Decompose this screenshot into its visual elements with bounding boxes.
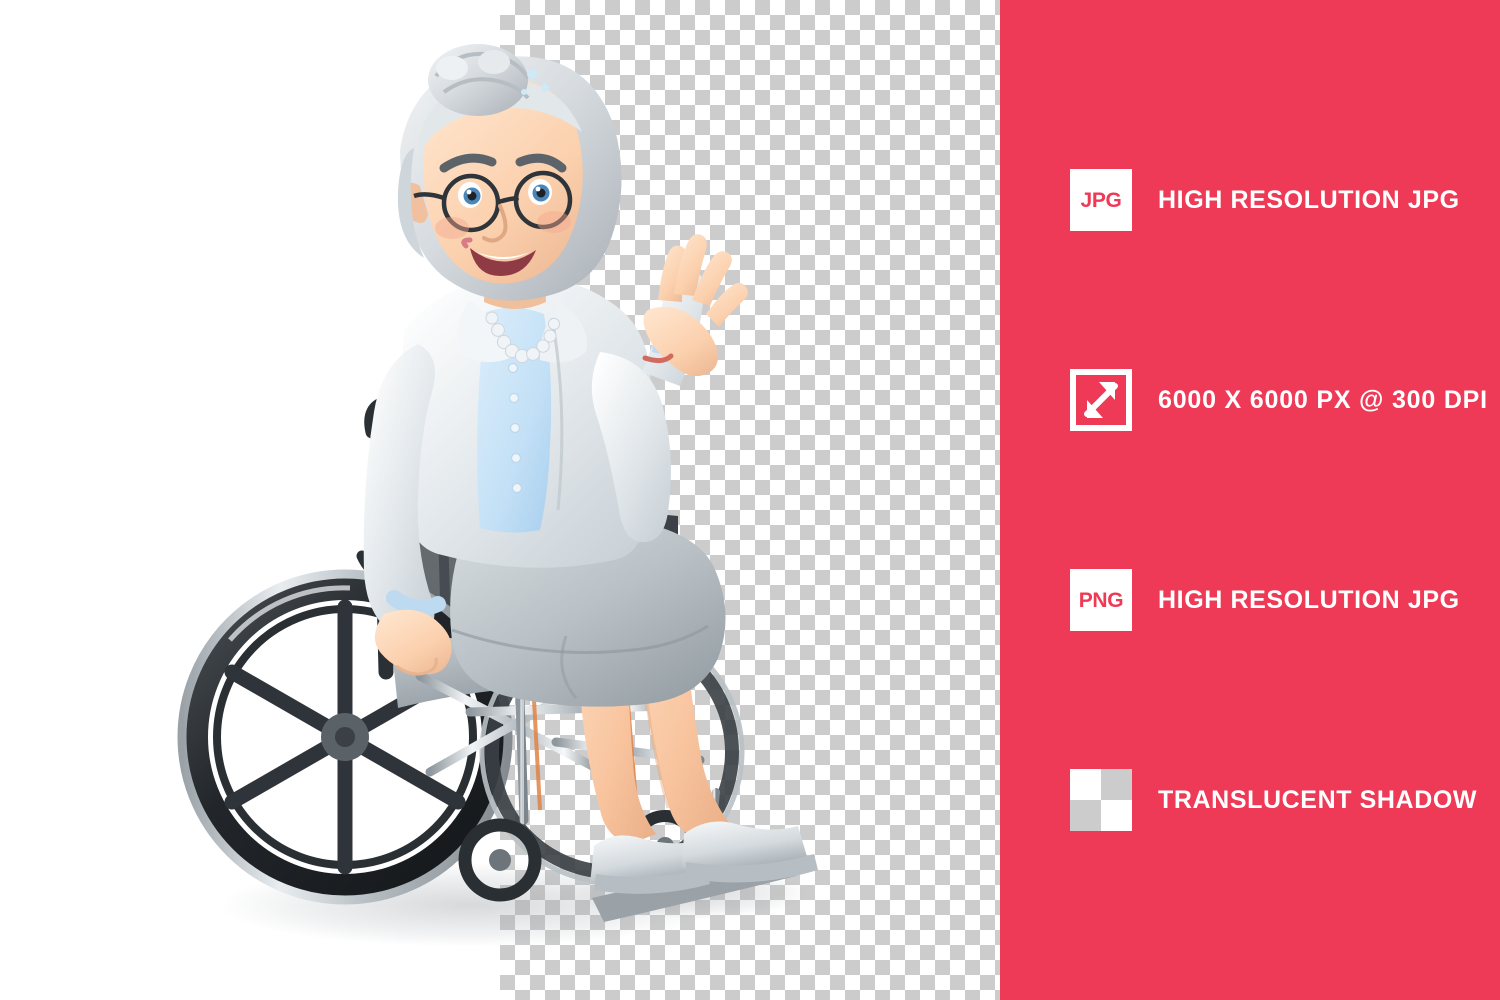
jpg-badge-icon: JPG (1070, 169, 1132, 231)
checker-cell-bl (1070, 800, 1101, 831)
spec-label-translucent-shadow: TRANSLUCENT SHADOW (1158, 788, 1477, 813)
specs-panel: JPG HIGH RESOLUTION JPG 6000 X 6000 PX @… (1000, 0, 1500, 1000)
png-badge-text: PNG (1079, 590, 1124, 611)
checker-cell-br (1101, 800, 1132, 831)
spec-row-dimensions: 6000 X 6000 PX @ 300 DPI (1070, 368, 1500, 432)
spec-label-png: HIGH RESOLUTION JPG (1158, 588, 1460, 613)
checkerboard-swatch (1070, 769, 1132, 831)
spec-label-dimensions: 6000 X 6000 PX @ 300 DPI (1158, 388, 1488, 413)
png-badge-icon: PNG (1070, 569, 1132, 631)
jpg-badge-text: JPG (1080, 190, 1121, 211)
png-badge: PNG (1070, 569, 1132, 631)
spec-row-jpg: JPG HIGH RESOLUTION JPG (1070, 168, 1500, 232)
spec-label-jpg: HIGH RESOLUTION JPG (1158, 188, 1460, 213)
spec-row-translucent-shadow: TRANSLUCENT SHADOW (1070, 768, 1500, 832)
checkerboard-icon (1070, 769, 1132, 831)
spec-row-png: PNG HIGH RESOLUTION JPG (1070, 568, 1500, 632)
checker-cell-tl (1070, 769, 1101, 800)
jpg-badge: JPG (1070, 169, 1132, 231)
transparency-checkerboard-background (500, 0, 1000, 1000)
checker-cell-tr (1101, 769, 1132, 800)
product-preview-panel (0, 0, 1000, 1000)
white-background-half (0, 0, 500, 1000)
screenshot-stage: JPG HIGH RESOLUTION JPG 6000 X 6000 PX @… (0, 0, 1500, 1000)
resize-arrows-icon (1070, 369, 1132, 431)
